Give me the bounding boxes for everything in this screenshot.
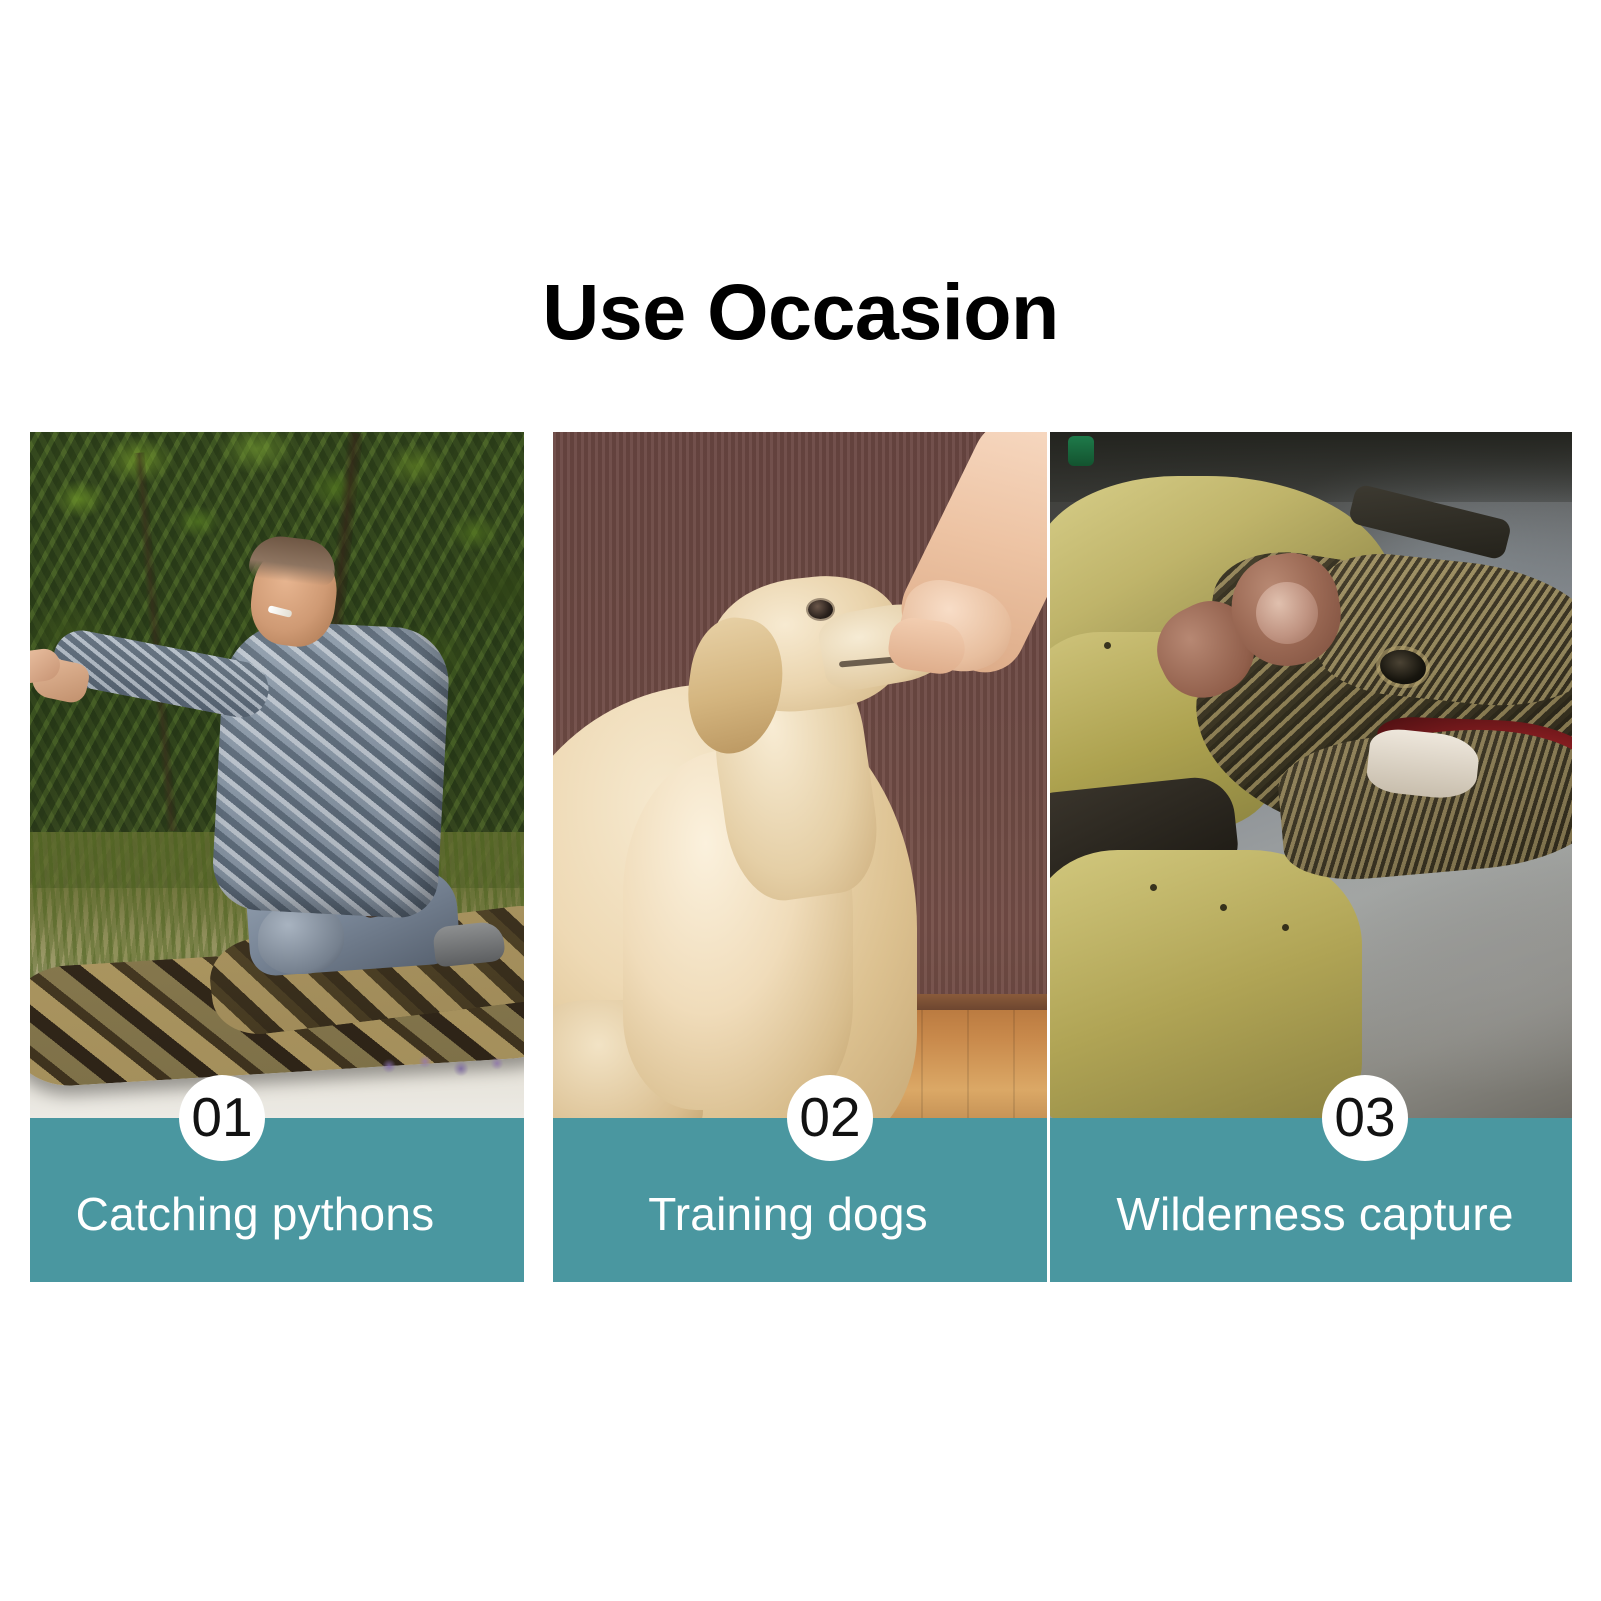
occasion-card-1[interactable]: 01 Catching pythons bbox=[30, 432, 524, 1282]
occasion-card-3[interactable]: 03 Wilderness capture bbox=[1050, 432, 1572, 1282]
caption-bar-3: Wilderness capture bbox=[1050, 1118, 1572, 1282]
step-number: 02 bbox=[799, 1090, 860, 1145]
glove-stud bbox=[1150, 884, 1157, 891]
glove-stud bbox=[1104, 642, 1111, 649]
dog-eye bbox=[808, 600, 833, 619]
step-number: 03 bbox=[1334, 1090, 1395, 1145]
step-badge-2: 02 bbox=[787, 1075, 873, 1161]
step-number: 01 bbox=[191, 1090, 252, 1145]
leather-glove-lower bbox=[1050, 850, 1362, 1118]
ground-flowers bbox=[368, 1044, 518, 1088]
wilderness-capture-photo bbox=[1050, 432, 1572, 1118]
step-badge-3: 03 bbox=[1322, 1075, 1408, 1161]
caption-bar-1: Catching pythons bbox=[30, 1118, 524, 1282]
occasion-card-2[interactable]: 02 Training dogs bbox=[553, 432, 1047, 1282]
use-occasion-banner: Use Occasion bbox=[0, 0, 1601, 1601]
python-catch-photo bbox=[30, 432, 524, 1118]
glove-stud bbox=[1220, 904, 1227, 911]
page-title: Use Occasion bbox=[0, 272, 1601, 351]
glove-stud bbox=[1282, 924, 1289, 931]
caption-label: Catching pythons bbox=[76, 1191, 435, 1237]
dog-training-photo bbox=[553, 432, 1047, 1118]
occasion-card-row: 01 Catching pythons bbox=[30, 432, 1572, 1282]
caption-label: Wilderness capture bbox=[1116, 1191, 1513, 1237]
caption-label: Training dogs bbox=[648, 1191, 928, 1237]
green-accent bbox=[1068, 436, 1094, 466]
step-badge-1: 01 bbox=[179, 1075, 265, 1161]
man-shoe-front bbox=[432, 920, 506, 967]
